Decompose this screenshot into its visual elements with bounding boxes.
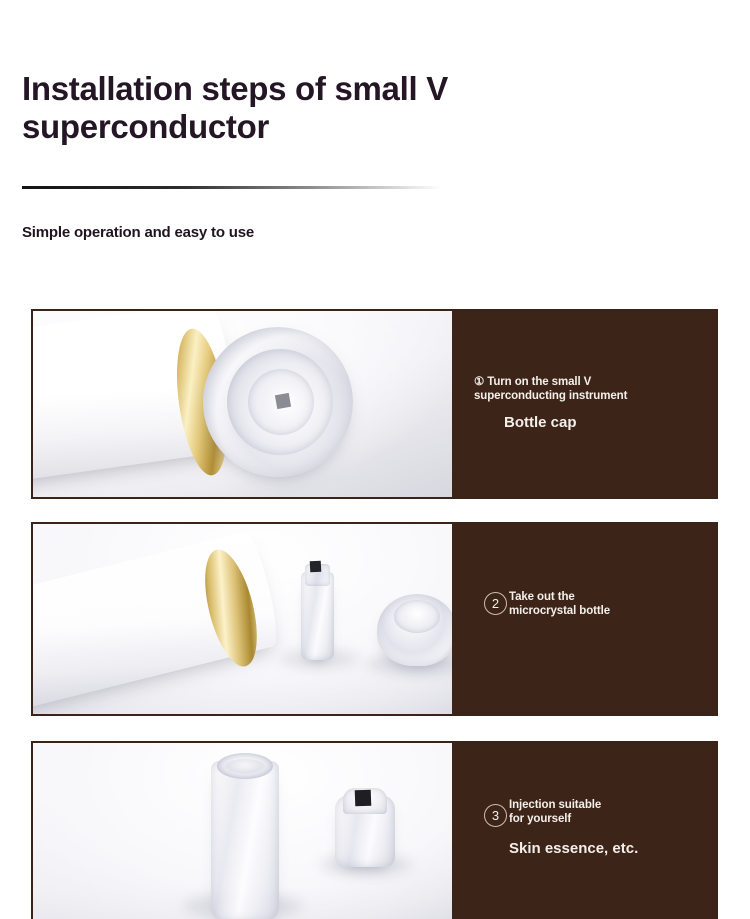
step-3-instruction: Injection suitable for yourself — [509, 798, 601, 826]
step-panel-2[interactable]: 2 Take out the microcrystal bottle — [31, 522, 718, 716]
step-panel-3[interactable]: 3 Injection suitable for yourself Skin e… — [31, 741, 718, 919]
step-2-photo — [33, 524, 452, 714]
step-2-instruction: Take out the microcrystal bottle — [509, 590, 610, 618]
step-1-photo — [33, 311, 452, 497]
step-3-caption: 3 Injection suitable for yourself Skin e… — [452, 743, 716, 919]
chip-square-icon — [310, 561, 322, 573]
cap-inner-ring-icon — [394, 600, 440, 633]
step-1-emphasis: Bottle cap — [504, 414, 577, 432]
step-3-number-badge: 3 — [484, 804, 507, 827]
microcrystal-bottle-icon — [211, 761, 279, 919]
installation-steps-list: ① Turn on the small V superconducting in… — [0, 0, 750, 919]
step-3-photo — [33, 743, 452, 919]
step-panel-1[interactable]: ① Turn on the small V superconducting in… — [31, 309, 718, 499]
chip-square-icon — [355, 790, 372, 807]
chip-square-icon — [275, 393, 291, 409]
step-1-instruction: ① Turn on the small V superconducting in… — [474, 375, 627, 403]
step-2-caption: 2 Take out the microcrystal bottle — [452, 524, 716, 714]
step-2-number-badge: 2 — [484, 592, 507, 615]
bottle-rim-inner-icon — [225, 759, 265, 774]
step-1-caption: ① Turn on the small V superconducting in… — [452, 311, 716, 497]
step-3-emphasis: Skin essence, etc. — [509, 840, 638, 858]
